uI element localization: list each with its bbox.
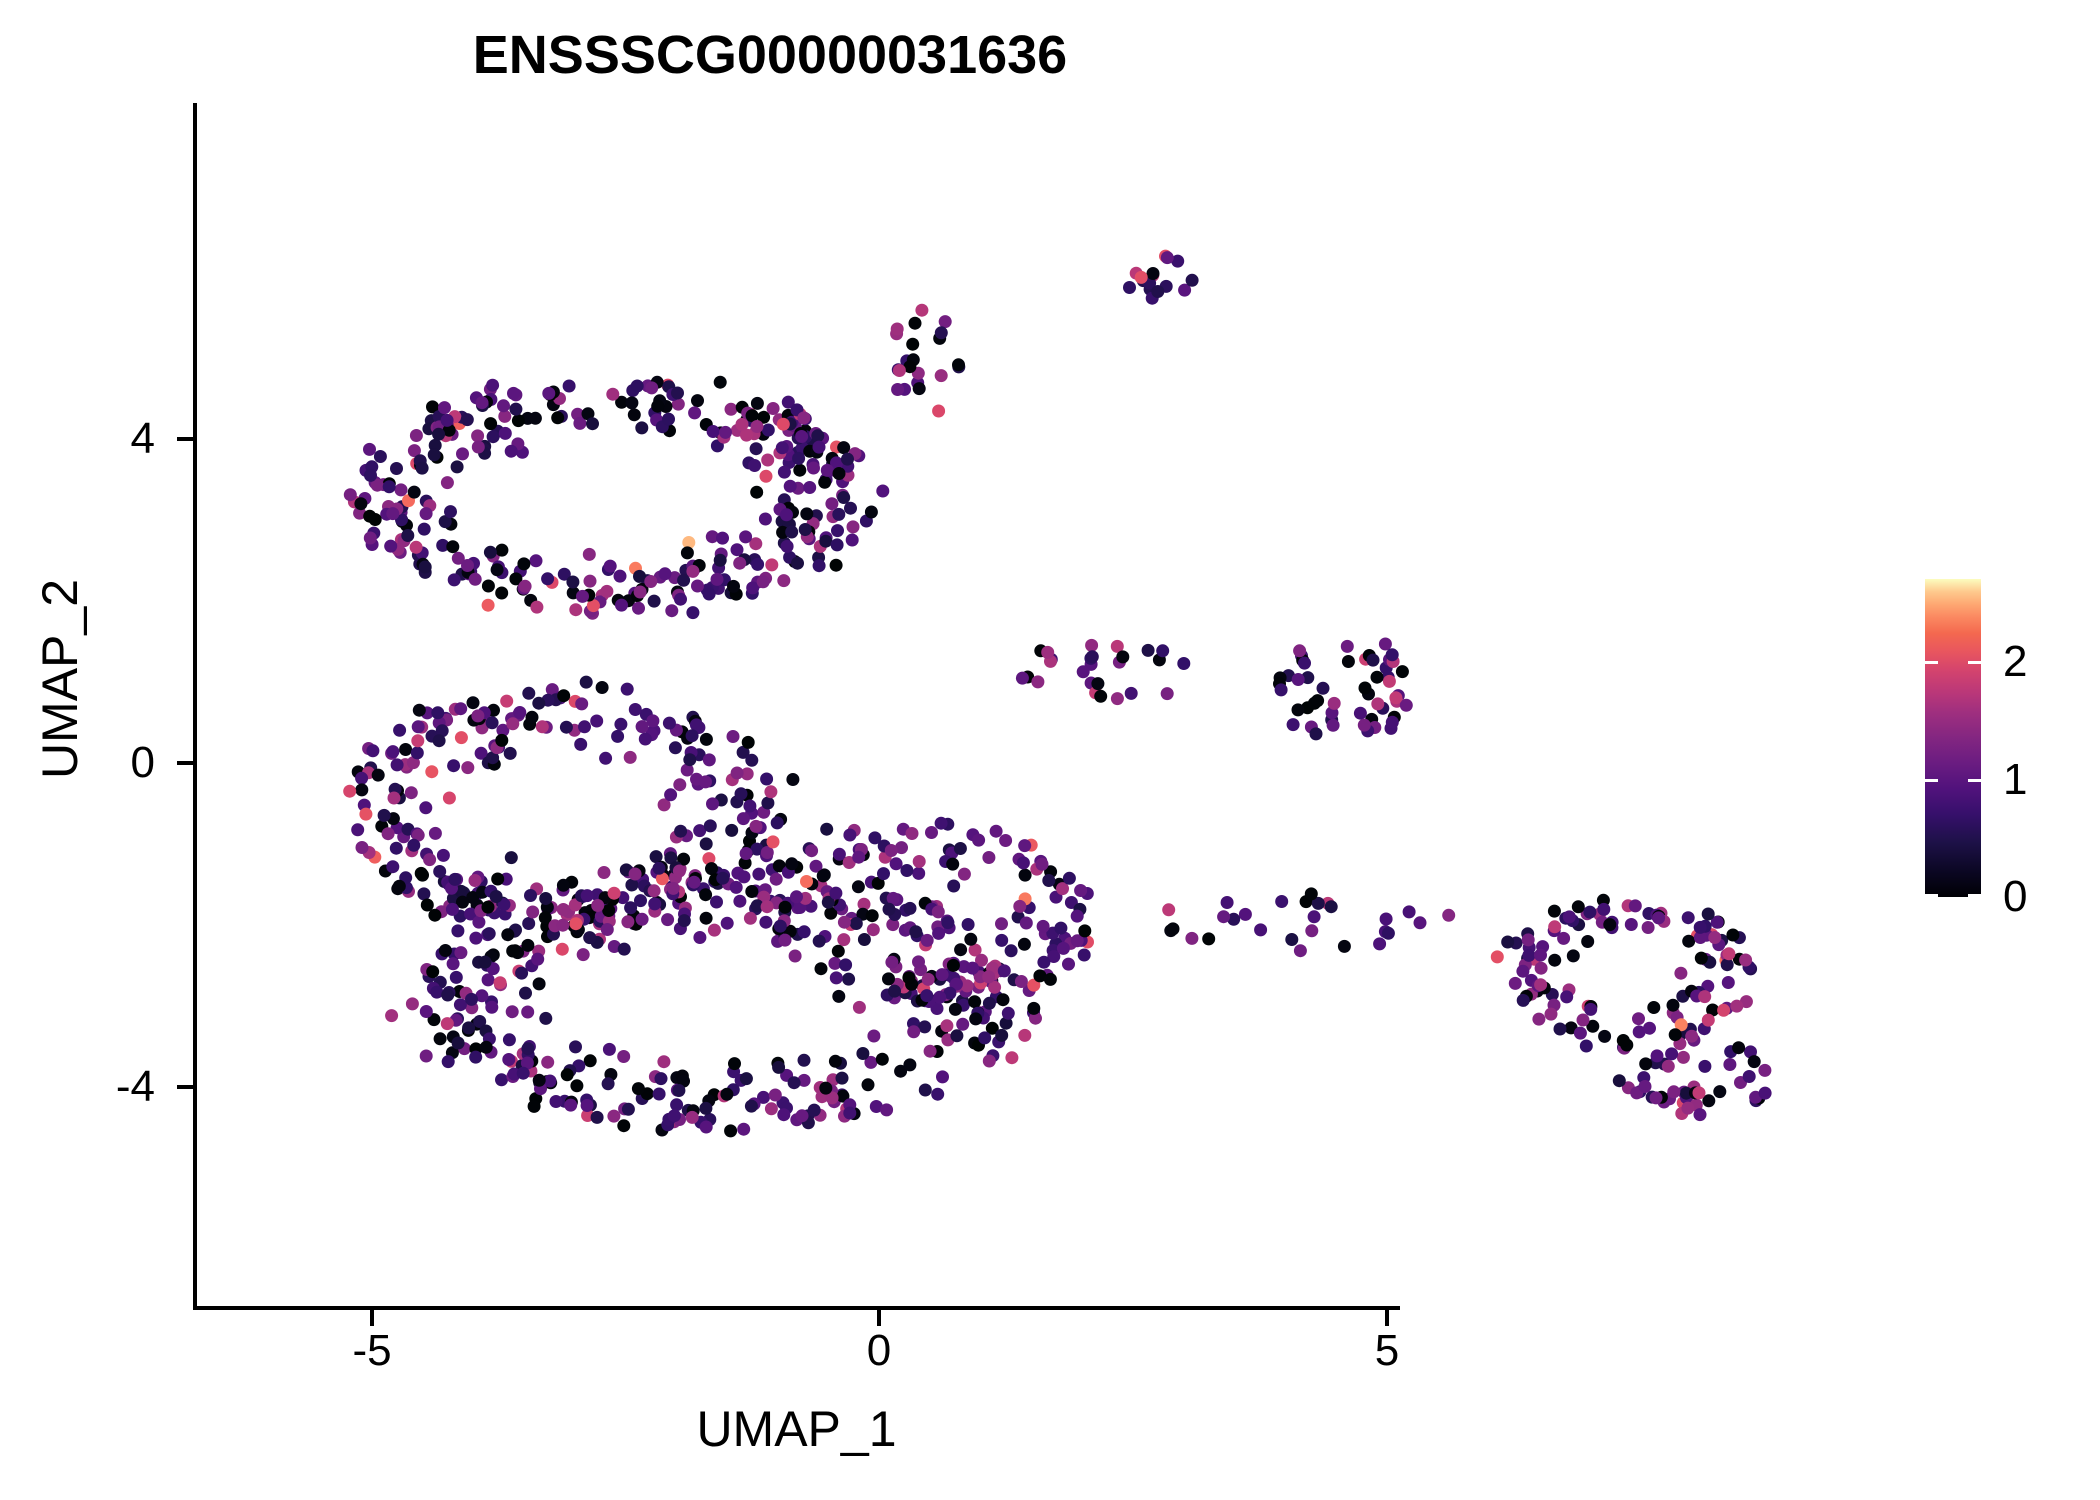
plot-panel	[193, 103, 1400, 1308]
scatter-point	[1554, 1023, 1567, 1036]
scatter-point	[1702, 1094, 1715, 1107]
scatter-point	[1548, 924, 1561, 937]
scatter-point	[1702, 1014, 1715, 1027]
colorbar-legend: 2 1 0	[1925, 579, 2075, 909]
scatter-point	[1685, 1030, 1698, 1043]
colorbar-label-2: 2	[2003, 637, 2027, 687]
scatter-point	[1606, 916, 1619, 929]
scatter-point	[1699, 953, 1712, 966]
scatter-point	[1724, 1045, 1737, 1058]
scatter-point	[1675, 1107, 1688, 1120]
scatter-point	[1681, 1102, 1694, 1115]
scatter-point	[1538, 981, 1551, 994]
scatter-point	[1647, 1001, 1660, 1014]
scatter-point	[1749, 1091, 1762, 1104]
scatter-point	[1721, 958, 1734, 971]
scatter-point	[1510, 937, 1523, 950]
scatter-point	[1586, 1020, 1599, 1033]
scatter-point	[1566, 914, 1579, 927]
scatter-point	[1650, 909, 1663, 922]
scatter-point	[1603, 918, 1616, 931]
scatter-point	[1605, 921, 1618, 934]
scatter-point	[1577, 1014, 1590, 1027]
x-axis-title: UMAP_1	[193, 1400, 1400, 1458]
scatter-point	[1442, 909, 1455, 922]
scatter-point	[1720, 1002, 1733, 1015]
scatter-point	[1629, 899, 1642, 912]
scatter-point	[1536, 940, 1549, 953]
scatter-point	[1534, 949, 1547, 962]
scatter-point	[1712, 938, 1725, 951]
x-tick-label-0: 0	[867, 1326, 891, 1376]
scatter-point	[1705, 928, 1718, 941]
colorbar-label-1: 1	[2003, 755, 2027, 805]
scatter-point	[1622, 899, 1635, 912]
scatter-point	[1581, 907, 1594, 920]
scatter-point	[1520, 990, 1533, 1003]
scatter-point	[1744, 1045, 1757, 1058]
scatter-point	[1723, 1058, 1736, 1071]
scatter-point	[1655, 907, 1668, 920]
scatter-point	[1414, 916, 1427, 929]
scatter-point	[1598, 1030, 1611, 1043]
scatter-point	[1652, 910, 1665, 923]
scatter-point	[1657, 915, 1670, 928]
scatter-point	[1572, 918, 1585, 931]
scatter-point	[1649, 1056, 1662, 1069]
scatter-point	[1694, 921, 1707, 934]
scatter-point	[1715, 934, 1728, 947]
scatter-point	[1702, 908, 1715, 921]
scatter-point	[1665, 1047, 1678, 1060]
scatter-point	[1662, 1060, 1675, 1073]
scatter-point	[1567, 949, 1580, 962]
scatter-point	[1563, 910, 1576, 923]
scatter-point	[1658, 1096, 1671, 1109]
scatter-point	[1574, 1027, 1587, 1040]
scatter-point	[1633, 1085, 1646, 1098]
scatter-point	[1531, 985, 1544, 998]
scatter-point	[1682, 911, 1695, 924]
y-tick-mark-4	[177, 437, 193, 441]
scatter-point	[1744, 962, 1757, 975]
scatter-point	[1690, 990, 1703, 1003]
scatter-point	[1673, 1037, 1686, 1050]
scatter-point	[1689, 1086, 1702, 1099]
scatter-point	[1517, 994, 1530, 1007]
scatter-point	[1667, 1085, 1680, 1098]
scatter-point	[1491, 950, 1504, 963]
scatter-point	[1713, 1085, 1726, 1098]
scatter-point	[1625, 918, 1638, 931]
umap-feature-plot: ENSSSCG00000031636 4 0 -4 -5 0 5 UMAP_1 …	[0, 0, 2100, 1500]
scatter-point	[1528, 953, 1541, 966]
scatter-point	[1684, 1023, 1697, 1036]
scatter-point	[1732, 1041, 1745, 1054]
scatter-point	[1596, 916, 1609, 929]
scatter-point	[1743, 961, 1756, 974]
scatter-point	[1739, 954, 1752, 967]
colorbar-tick-2-left	[1925, 661, 1938, 664]
scatter-point	[1534, 978, 1547, 991]
scatter-point	[1726, 929, 1739, 942]
scatter-point	[1642, 907, 1655, 920]
scatter-point	[1698, 1022, 1711, 1035]
scatter-point	[1525, 988, 1538, 1001]
scatter-point	[1708, 931, 1721, 944]
colorbar-tick-0-left	[1925, 894, 1938, 897]
scatter-point	[1525, 974, 1538, 987]
scatter-point	[1712, 916, 1725, 929]
scatter-point	[1675, 1018, 1688, 1031]
scatter-point	[1646, 1091, 1659, 1104]
scatter-point	[1719, 954, 1732, 967]
scatter-point	[1545, 1008, 1558, 1021]
scatter-point	[1734, 1076, 1747, 1089]
scatter-point	[1613, 1074, 1626, 1087]
colorbar-gradient	[1925, 579, 1981, 897]
colorbar-label-0: 0	[2003, 872, 2027, 922]
scatter-point	[1618, 1042, 1631, 1055]
scatter-point	[1669, 1028, 1682, 1041]
scatter-point	[1698, 990, 1711, 1003]
scatter-point	[1692, 986, 1705, 999]
scatter-point	[1694, 1108, 1707, 1121]
scatter-point	[1700, 929, 1713, 942]
scatter-point	[1632, 1012, 1645, 1025]
scatter-point	[1663, 1092, 1676, 1105]
scatter-point	[1722, 947, 1735, 960]
x-tick-label-neg5: -5	[352, 1326, 391, 1376]
scatter-point	[1643, 1022, 1656, 1035]
scatter-point	[1690, 1099, 1703, 1112]
scatter-point	[1639, 1057, 1652, 1070]
scatter-point	[1637, 1071, 1650, 1084]
scatter-point	[1617, 1034, 1630, 1047]
scatter-point	[1548, 920, 1561, 933]
scatter-point	[1677, 1096, 1690, 1109]
scatter-point	[1560, 990, 1573, 1003]
scatter-point	[1667, 999, 1680, 1012]
scatter-point	[1582, 1000, 1595, 1013]
scatter-point	[1699, 920, 1712, 933]
scatter-point	[1630, 1086, 1643, 1099]
x-tick-mark-neg5	[370, 1310, 374, 1326]
scatter-point	[1733, 931, 1746, 944]
scatter-point	[1563, 983, 1576, 996]
scatter-point	[1733, 953, 1746, 966]
x-tick-mark-5	[1385, 1310, 1389, 1326]
scatter-point	[1682, 935, 1695, 948]
scatter-point	[1521, 927, 1534, 940]
scatter-point	[1557, 932, 1570, 945]
scatter-point	[1743, 1070, 1756, 1083]
scatter-point	[1678, 1086, 1691, 1099]
scatter-point	[1750, 1094, 1763, 1107]
scatter-point	[1680, 1087, 1693, 1100]
scatter-point	[1501, 936, 1514, 949]
scatter-point	[1748, 1055, 1761, 1068]
colorbar-tick-1-right	[1968, 779, 1981, 782]
y-axis-title: UMAP_2	[31, 79, 89, 1279]
scatter-point	[1688, 1081, 1701, 1094]
scatter-point	[1548, 999, 1561, 1012]
scatter-point	[1522, 933, 1535, 946]
x-tick-label-5: 5	[1375, 1326, 1399, 1376]
scatter-point	[1752, 1092, 1765, 1105]
scatter-point	[1572, 900, 1585, 913]
scatter-point	[1667, 1006, 1680, 1019]
scatter-point	[1400, 699, 1413, 712]
x-tick-mark-0	[877, 1310, 881, 1326]
scatter-point	[1693, 1086, 1706, 1099]
scatter-point	[1722, 976, 1735, 989]
scatter-point	[1721, 949, 1734, 962]
scatter-point	[1685, 985, 1698, 998]
y-tick-mark-neg4	[177, 1085, 193, 1089]
scatter-point	[1532, 979, 1545, 992]
scatter-point	[1671, 1011, 1684, 1024]
scatter-point	[1658, 1058, 1671, 1071]
scatter-point	[1639, 1080, 1652, 1093]
scatter-point	[1559, 912, 1572, 925]
scatter-point	[1730, 1000, 1743, 1013]
scatter-point	[1694, 931, 1707, 944]
scatter-point	[1620, 1039, 1633, 1052]
scatter-point	[1650, 1091, 1663, 1104]
scatter-point	[1673, 1028, 1686, 1041]
y-tick-label-4: 4	[90, 414, 155, 464]
scatter-point	[1673, 1030, 1686, 1043]
scatter-point	[1509, 977, 1522, 990]
scatter-point	[1680, 1091, 1693, 1104]
colorbar-tick-1-left	[1925, 779, 1938, 782]
scatter-point	[1642, 921, 1655, 934]
scatter-point	[1652, 911, 1665, 924]
scatter-point	[1706, 1004, 1719, 1017]
y-tick-mark-0	[177, 761, 193, 765]
scatter-point	[1687, 1034, 1700, 1047]
scatter-point	[1617, 1041, 1630, 1054]
scatter-point	[1674, 967, 1687, 980]
scatter-point	[1597, 894, 1610, 907]
scatter-point	[1521, 952, 1534, 965]
scatter-point	[1711, 916, 1724, 929]
scatter-point	[1523, 941, 1536, 954]
colorbar-tick-0-right	[1968, 894, 1981, 897]
scatter-point	[1759, 1087, 1772, 1100]
scatter-point	[1701, 980, 1714, 993]
scatter-point	[1677, 1051, 1690, 1064]
y-tick-label-0: 0	[90, 738, 155, 788]
scatter-point	[1655, 1091, 1668, 1104]
scatter-point	[1546, 988, 1559, 1001]
scatter-point	[1740, 995, 1753, 1008]
scatter-point	[1548, 905, 1561, 918]
scatter-point	[1516, 965, 1529, 978]
scatter-point	[1584, 1003, 1597, 1016]
scatter-point	[1565, 1021, 1578, 1034]
scatter-point	[1522, 949, 1535, 962]
scatter-point	[1691, 929, 1704, 942]
scatter-point	[1583, 906, 1596, 919]
scatter-point	[1532, 1013, 1545, 1026]
scatter-point	[1717, 1004, 1730, 1017]
scatter-point	[1703, 956, 1716, 969]
scatter-point	[1580, 1040, 1593, 1053]
scatter-point	[1597, 903, 1610, 916]
page-title: ENSSSCG00000031636	[0, 24, 1540, 86]
scatter-point	[1758, 1064, 1771, 1077]
scatter-point	[1581, 935, 1594, 948]
scatter-point	[1584, 1000, 1597, 1013]
colorbar-tick-2-right	[1968, 661, 1981, 664]
scatter-point	[1403, 905, 1416, 918]
scatter-point	[1651, 1049, 1664, 1062]
scatter-point	[1519, 958, 1532, 971]
scatter-point	[1695, 952, 1708, 965]
scatter-point	[1698, 1060, 1711, 1073]
scatter-point	[1535, 962, 1548, 975]
scatter-point	[1593, 908, 1606, 921]
scatter-point	[1633, 1025, 1646, 1038]
scatter-point	[1676, 990, 1689, 1003]
scatter-point	[1548, 954, 1561, 967]
scatter-point	[1622, 1081, 1635, 1094]
